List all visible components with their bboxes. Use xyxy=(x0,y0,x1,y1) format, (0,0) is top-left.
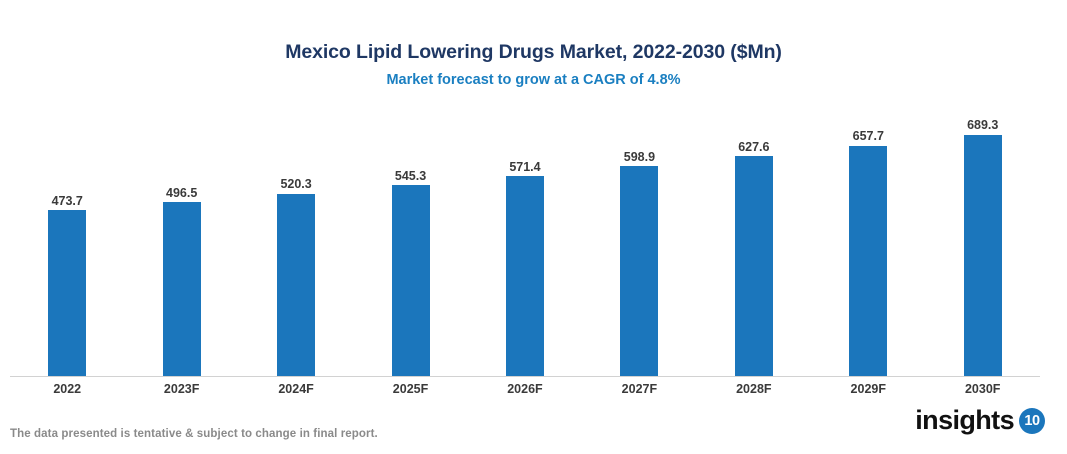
bar-rect[interactable] xyxy=(620,166,658,376)
bar-value-label: 598.9 xyxy=(624,151,655,164)
bar-rect[interactable] xyxy=(277,194,315,376)
x-tick-2029F: 2029F xyxy=(811,379,925,399)
x-tick-2028F: 2028F xyxy=(697,379,811,399)
bar-group-2029F: 657.7 xyxy=(811,110,925,376)
bar-value-label: 496.5 xyxy=(166,187,197,200)
chart-figure: Mexico Lipid Lowering Drugs Market, 2022… xyxy=(0,0,1067,454)
chart-subtitle: Market forecast to grow at a CAGR of 4.8… xyxy=(0,72,1067,89)
bar-group-2024F: 520.3 xyxy=(239,110,353,376)
bar-group-2027F: 598.9 xyxy=(582,110,696,376)
x-tick-2024F: 2024F xyxy=(239,379,353,399)
x-tick-2023F: 2023F xyxy=(125,379,239,399)
bar-rect[interactable] xyxy=(48,210,86,376)
x-axis-line xyxy=(10,376,1040,377)
x-axis-tick-labels: 2022 2023F 2024F 2025F 2026F 2027F 2028F… xyxy=(10,379,1040,399)
bar-value-label: 473.7 xyxy=(52,195,83,208)
bar-value-label: 520.3 xyxy=(280,178,311,191)
x-tick-2025F: 2025F xyxy=(354,379,468,399)
disclaimer-text: The data presented is tentative & subjec… xyxy=(10,428,378,440)
x-tick-2026F: 2026F xyxy=(468,379,582,399)
bar-value-label: 657.7 xyxy=(853,130,884,143)
bar-value-label: 689.3 xyxy=(967,119,998,132)
bar-rect[interactable] xyxy=(163,202,201,376)
x-tick-2030F: 2030F xyxy=(926,379,1040,399)
bar-value-label: 627.6 xyxy=(738,141,769,154)
plot-area: 473.7 496.5 520.3 545.3 571.4 598.9 xyxy=(10,110,1040,376)
bar-value-label: 545.3 xyxy=(395,170,426,183)
bar-value-label: 571.4 xyxy=(509,161,540,174)
title-block: Mexico Lipid Lowering Drugs Market, 2022… xyxy=(0,40,1067,90)
x-tick-2022: 2022 xyxy=(10,379,124,399)
bar-rect[interactable] xyxy=(506,176,544,376)
bar-group-2023F: 496.5 xyxy=(125,110,239,376)
bar-rect[interactable] xyxy=(392,185,430,376)
bar-rect[interactable] xyxy=(735,156,773,376)
bar-group-2025F: 545.3 xyxy=(354,110,468,376)
bar-rect[interactable] xyxy=(964,135,1002,376)
logo-badge-icon: 10 xyxy=(1019,408,1045,434)
x-tick-2027F: 2027F xyxy=(582,379,696,399)
logo-wordmark: insights xyxy=(915,407,1014,434)
bar-group-2028F: 627.6 xyxy=(697,110,811,376)
insights10-logo: insights 10 xyxy=(915,407,1045,434)
bar-group-2030F: 689.3 xyxy=(926,110,1040,376)
bar-series: 473.7 496.5 520.3 545.3 571.4 598.9 xyxy=(10,110,1040,376)
chart-title: Mexico Lipid Lowering Drugs Market, 2022… xyxy=(0,40,1067,64)
bar-group-2026F: 571.4 xyxy=(468,110,582,376)
bar-rect[interactable] xyxy=(849,146,887,376)
bar-group-2022: 473.7 xyxy=(10,110,124,376)
